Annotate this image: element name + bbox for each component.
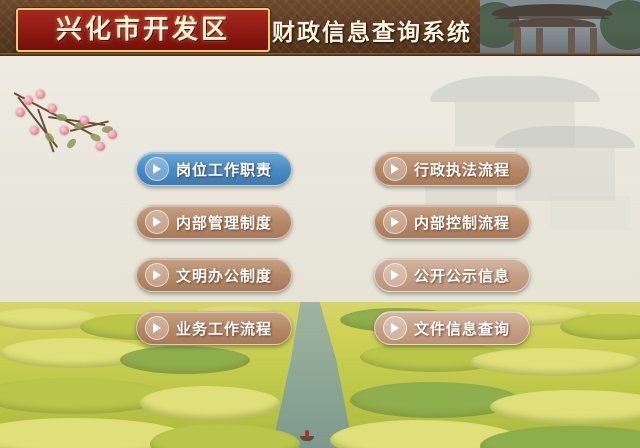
arrow-right-icon — [145, 210, 169, 234]
title-plaque: 兴化市开发区 — [16, 8, 270, 52]
menu-button-label: 行政执法流程 — [414, 159, 510, 180]
arrow-right-icon — [145, 263, 169, 287]
menu-button-label: 业务工作流程 — [176, 318, 272, 339]
arrow-right-icon — [383, 210, 407, 234]
arrow-right-icon — [383, 316, 407, 340]
menu-button-label: 岗位工作职责 — [176, 159, 272, 180]
arrow-right-icon — [383, 157, 407, 181]
menu-button-public-disclosure[interactable]: 公开公示信息 — [374, 258, 530, 292]
menu-button-office-civility[interactable]: 文明办公制度 — [136, 258, 292, 292]
system-subtitle: 财政信息查询系统 — [272, 13, 472, 47]
main-menu: 岗位工作职责 内部管理制度 文明办公制度 业务工作流程 行政执法流程 内部控制流… — [0, 56, 640, 448]
arrow-right-icon — [383, 263, 407, 287]
menu-button-job-duties[interactable]: 岗位工作职责 — [136, 152, 292, 186]
header-gate-photo — [480, 0, 640, 56]
arrow-right-icon — [145, 316, 169, 340]
menu-button-document-query[interactable]: 文件信息查询 — [374, 311, 530, 345]
app-window: 兴化市开发区 财政信息查询系统 岗位工作职责 内部管理制度 文明办公制度 业务工… — [0, 0, 640, 448]
menu-button-label: 公开公示信息 — [414, 265, 510, 286]
page-title: 兴化市开发区 — [18, 10, 268, 50]
menu-button-law-enforcement-process[interactable]: 行政执法流程 — [374, 152, 530, 186]
arrow-right-icon — [145, 157, 169, 181]
menu-button-label: 内部控制流程 — [414, 212, 510, 233]
menu-button-internal-control-process[interactable]: 内部控制流程 — [374, 205, 530, 239]
menu-button-internal-management[interactable]: 内部管理制度 — [136, 205, 292, 239]
page-header: 兴化市开发区 财政信息查询系统 — [0, 0, 640, 56]
menu-button-business-workflow[interactable]: 业务工作流程 — [136, 311, 292, 345]
menu-button-label: 文件信息查询 — [414, 318, 510, 339]
menu-button-label: 内部管理制度 — [176, 212, 272, 233]
menu-button-label: 文明办公制度 — [176, 265, 272, 286]
